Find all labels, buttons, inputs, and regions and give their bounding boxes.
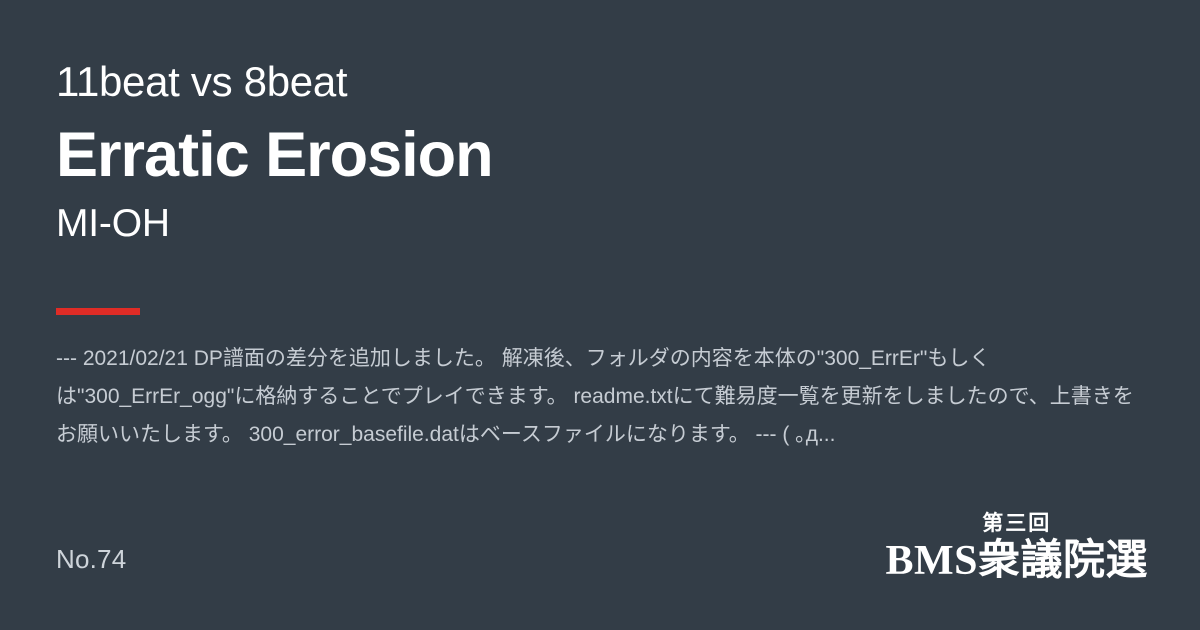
description-text: --- 2021/02/21 DP譜面の差分を追加しました。 解凍後、フォルダの… (56, 340, 1150, 454)
event-logo-name: BMS衆議院選 (885, 540, 1148, 582)
entry-number: No.74 (56, 545, 126, 582)
og-image-card: 11beat vs 8beat Erratic Erosion MI-OH --… (0, 0, 1200, 630)
header: 11beat vs 8beat Erratic Erosion MI-OH (56, 58, 1144, 246)
event-logo-edition: 第三回 (885, 513, 1148, 534)
event-logo: 第三回 BMS衆議院選 (885, 513, 1148, 582)
event-label: 11beat vs 8beat (56, 58, 1144, 105)
artist-name: MI-OH (56, 202, 1144, 246)
footer: No.74 第三回 BMS衆議院選 (56, 513, 1148, 582)
song-title: Erratic Erosion (56, 121, 1144, 190)
accent-divider (56, 308, 140, 315)
